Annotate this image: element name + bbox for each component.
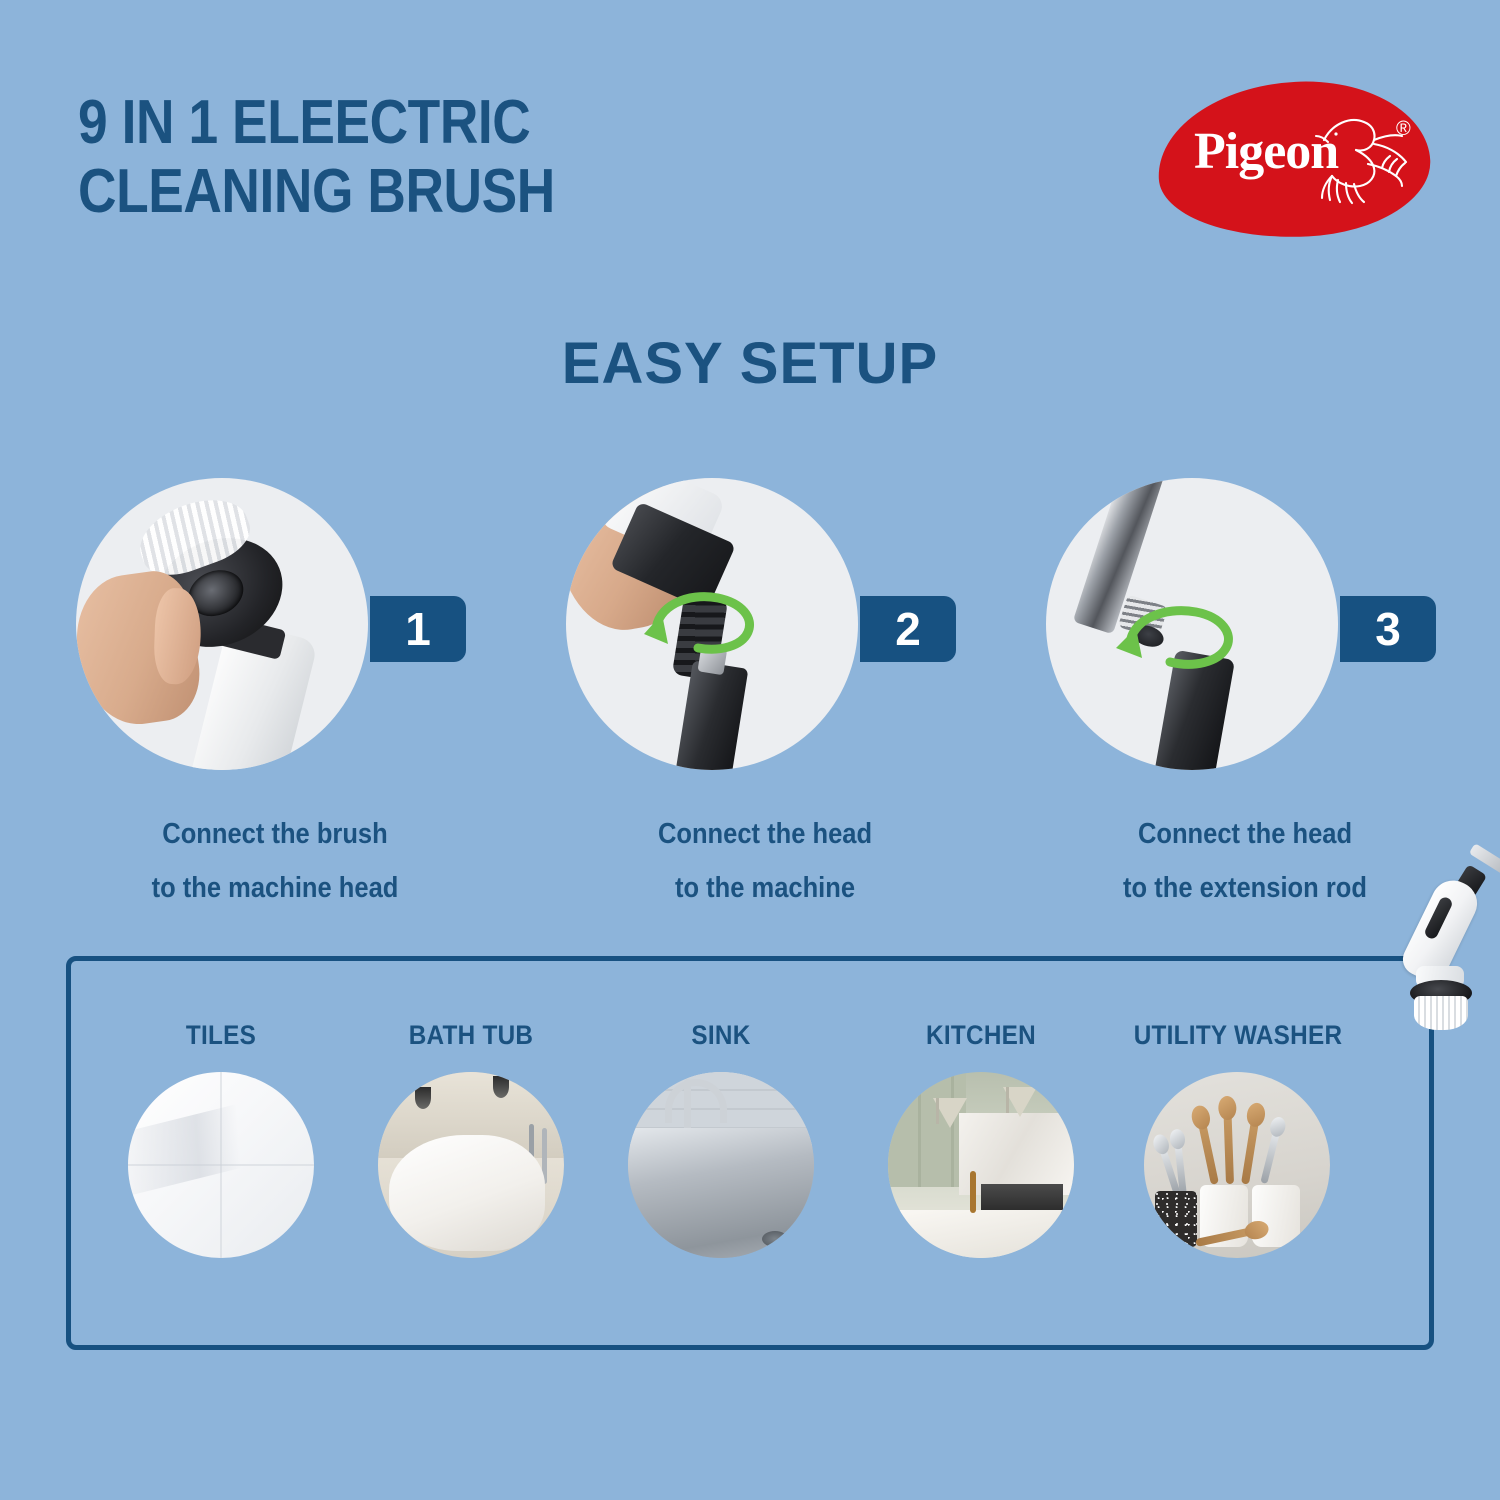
use-label-kitchen: KITCHEN	[878, 1020, 1085, 1051]
pendant-light-icon	[933, 1098, 967, 1128]
step-1-caption: Connect the brush to the machine head	[68, 808, 482, 915]
brush-bristles	[1414, 996, 1468, 1030]
wooden-spoon-icon	[1241, 1116, 1260, 1184]
step-2-badge: 2	[860, 596, 956, 662]
use-label-utility-washer: UTILITY WASHER	[1103, 1020, 1373, 1051]
step-3-badge: 3	[1340, 596, 1436, 662]
use-photo-bath-tub	[378, 1072, 564, 1258]
page-title-line-2: CLEANING BRUSH	[78, 157, 732, 226]
setup-step-3: 3 Connect the head to the extension rod	[1010, 478, 1480, 918]
drain-icon	[762, 1231, 788, 1247]
use-label-tiles: TILES	[118, 1020, 325, 1051]
step-2-photo	[566, 478, 858, 770]
utensils-illustration	[1144, 1072, 1330, 1258]
step-1-illustration	[76, 478, 368, 770]
step-2-illustration	[566, 478, 858, 770]
use-photo-utility-washer	[1144, 1072, 1330, 1258]
use-photo-sink	[628, 1072, 814, 1258]
use-item-kitchen: KITCHEN	[866, 1020, 1096, 1051]
step-1-photo	[76, 478, 368, 770]
step-2-caption-line-2: to the machine	[558, 862, 972, 916]
rotation-arrow-icon	[632, 574, 782, 670]
brass-faucet-icon	[970, 1171, 976, 1213]
step-3-caption: Connect the head to the extension rod	[1038, 808, 1452, 915]
registered-trademark-icon: ®	[1396, 118, 1411, 141]
use-label-bath-tub: BATH TUB	[368, 1020, 575, 1051]
cabinets	[888, 1072, 966, 1187]
setup-step-2: 2 Connect the head to the machine	[530, 478, 1000, 918]
countertop	[888, 1210, 1074, 1258]
use-label-sink: SINK	[618, 1020, 825, 1051]
kitchen-illustration	[888, 1072, 1074, 1258]
use-photo-tiles	[128, 1072, 314, 1258]
step-3-photo	[1046, 478, 1338, 770]
step-3-caption-line-2: to the extension rod	[1038, 862, 1452, 916]
step-3-caption-line-1: Connect the head	[1038, 808, 1452, 862]
rotation-arrow-icon	[1104, 590, 1264, 690]
step-3-illustration	[1046, 478, 1338, 770]
steel-utensil-icon	[1260, 1128, 1280, 1184]
tiles-illustration	[128, 1072, 314, 1258]
lamp-icon	[415, 1087, 431, 1109]
use-photo-kitchen	[888, 1072, 1074, 1258]
step-1-badge: 1	[370, 596, 466, 662]
marble-backsplash	[959, 1113, 1074, 1195]
use-item-tiles: TILES	[106, 1020, 336, 1051]
brand-logo: Pigeon ®	[1158, 82, 1430, 237]
step-1-caption-line-2: to the machine head	[68, 862, 482, 916]
hand	[76, 567, 206, 732]
use-item-sink: SINK	[606, 1020, 836, 1051]
bathtub-illustration	[378, 1072, 564, 1258]
setup-steps: 1 Connect the brush to the machine head …	[0, 478, 1500, 918]
page-title: 9 IN 1 ELEECTRIC CLEANING BRUSH	[78, 88, 732, 227]
page-title-line-1: 9 IN 1 ELEECTRIC	[78, 88, 732, 157]
step-2-caption: Connect the head to the machine	[558, 808, 972, 915]
step-2-caption-line-1: Connect the head	[558, 808, 972, 862]
tub-basin	[389, 1135, 545, 1250]
sink-illustration	[628, 1072, 814, 1258]
lamp-icon	[493, 1076, 509, 1098]
uses-list: TILES BATH TUB SINK	[66, 1020, 1434, 1300]
machine-rod	[676, 660, 749, 770]
wooden-spoon-icon	[1223, 1110, 1234, 1184]
use-item-utility-washer: UTILITY WASHER	[1088, 1020, 1388, 1051]
wooden-spoon-icon	[1197, 1118, 1219, 1184]
speckled-utensil-holder	[1155, 1191, 1197, 1247]
use-item-bath-tub: BATH TUB	[356, 1020, 586, 1051]
step-1-caption-line-1: Connect the brush	[68, 808, 482, 862]
setup-step-1: 1 Connect the brush to the machine head	[40, 478, 510, 918]
section-heading-easy-setup: EASY SETUP	[0, 330, 1500, 397]
pendant-light-icon	[1003, 1087, 1037, 1117]
product-image	[1392, 862, 1500, 1040]
